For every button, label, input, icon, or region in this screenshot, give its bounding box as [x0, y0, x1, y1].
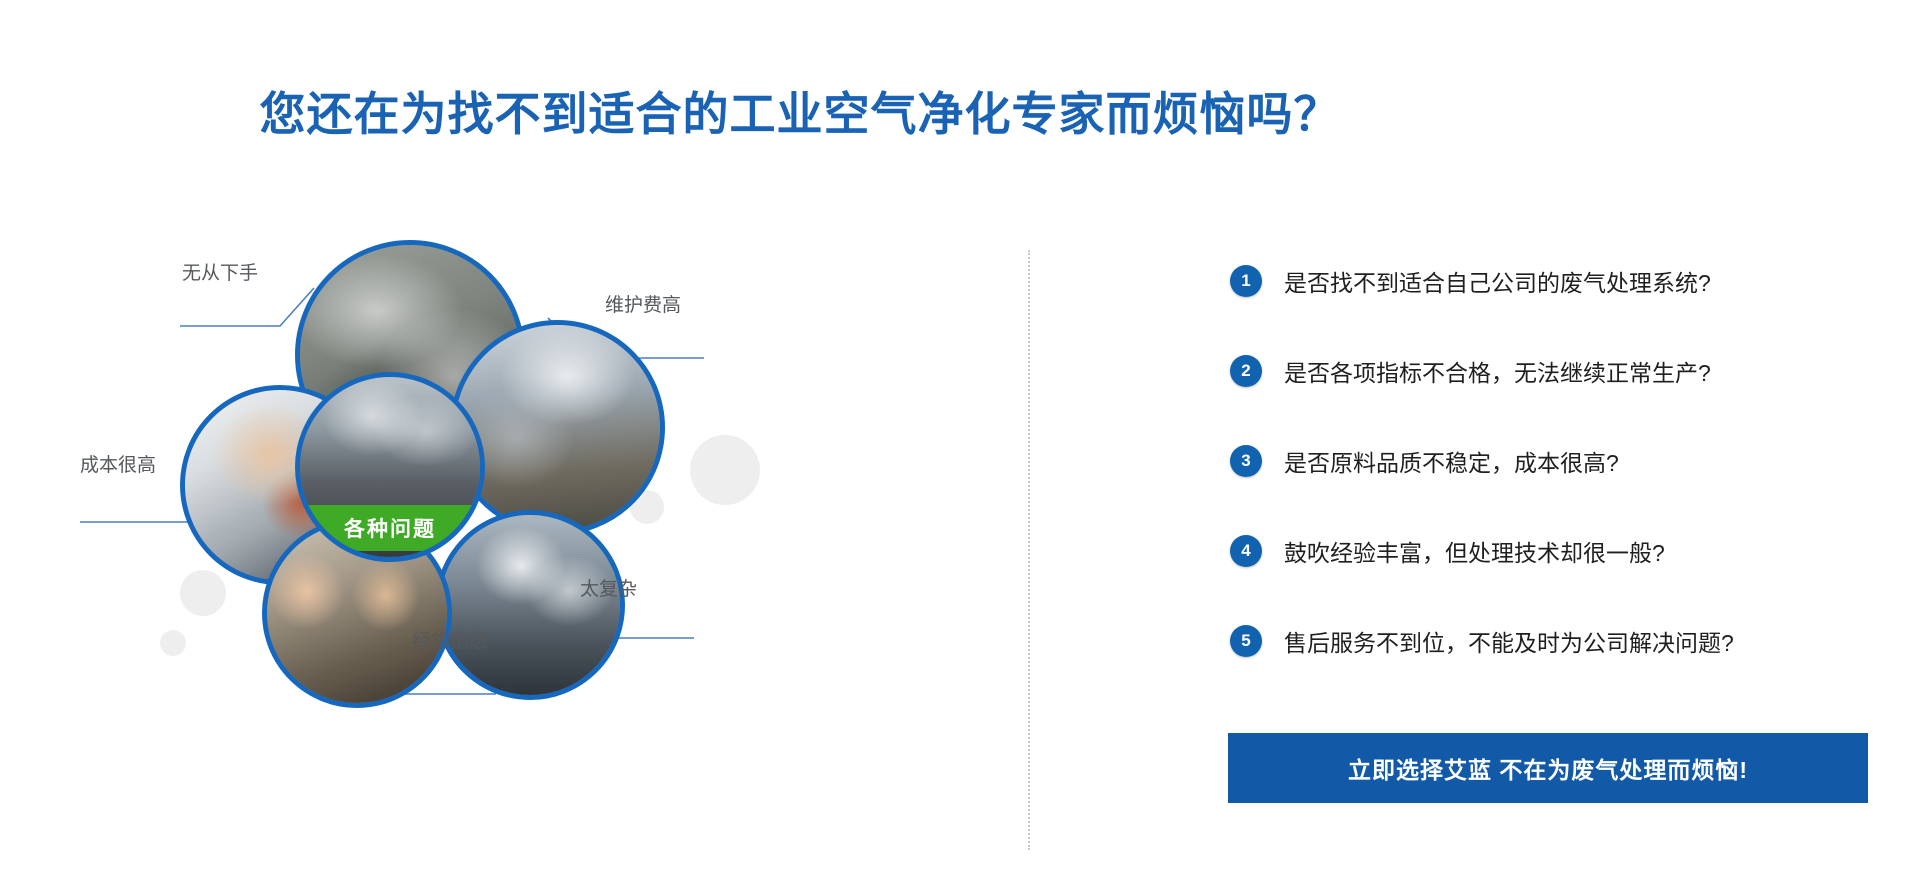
label-too-complex: 太复杂: [580, 574, 637, 601]
ghost-circle-large: [690, 435, 760, 505]
question-text: 售后服务不到位，不能及时为公司解决问题?: [1284, 624, 1734, 658]
center-badge-label: 各种问题: [300, 505, 480, 551]
questions-list: 1 是否找不到适合自己公司的废气处理系统? 2 是否各项指标不合格，无法继续正常…: [1230, 258, 1870, 708]
bubble-center-problems: 各种问题: [295, 372, 485, 562]
question-text: 鼓吹经验丰富，但处理技术却很一般?: [1284, 534, 1665, 568]
list-item: 1 是否找不到适合自己公司的废气处理系统?: [1230, 258, 1870, 304]
list-item: 3 是否原料品质不稳定，成本很高?: [1230, 438, 1870, 484]
list-item: 2 是否各项指标不合格，无法继续正常生产?: [1230, 348, 1870, 394]
label-high-maintenance: 维护费高: [605, 290, 681, 317]
question-number-badge: 2: [1230, 355, 1262, 387]
question-text: 是否各项指标不合格，无法继续正常生产?: [1284, 354, 1711, 388]
question-number-badge: 1: [1230, 265, 1262, 297]
question-number-badge: 3: [1230, 445, 1262, 477]
question-number-badge: 5: [1230, 625, 1262, 657]
smoke-plume-photo: [455, 325, 660, 530]
question-text: 是否找不到适合自己公司的废气处理系统?: [1284, 264, 1711, 298]
problems-diagram: 各种问题 无从下手 维护费高 成本很高 太复杂 经常抱怨: [40, 240, 980, 860]
label-high-cost: 成本很高: [80, 450, 156, 477]
page-root: 您还在为找不到适合的工业空气净化专家而烦恼吗？: [0, 0, 1920, 875]
question-text: 是否原料品质不稳定，成本很高?: [1284, 444, 1619, 478]
ghost-circle-tiny: [160, 630, 186, 656]
question-number-badge: 4: [1230, 535, 1262, 567]
cta-button[interactable]: 立即选择艾蓝 不在为废气处理而烦恼!: [1228, 733, 1868, 803]
list-item: 5 售后服务不到位，不能及时为公司解决问题?: [1230, 618, 1870, 664]
bubble-smoke-plume: [450, 320, 665, 535]
label-no-idea: 无从下手: [182, 258, 258, 285]
page-title: 您还在为找不到适合的工业空气净化专家而烦恼吗？: [0, 88, 1600, 141]
section-divider: [1028, 250, 1030, 850]
list-item: 4 鼓吹经验丰富，但处理技术却很一般?: [1230, 528, 1870, 574]
label-frequent-complaints: 经常抱怨: [412, 626, 488, 653]
